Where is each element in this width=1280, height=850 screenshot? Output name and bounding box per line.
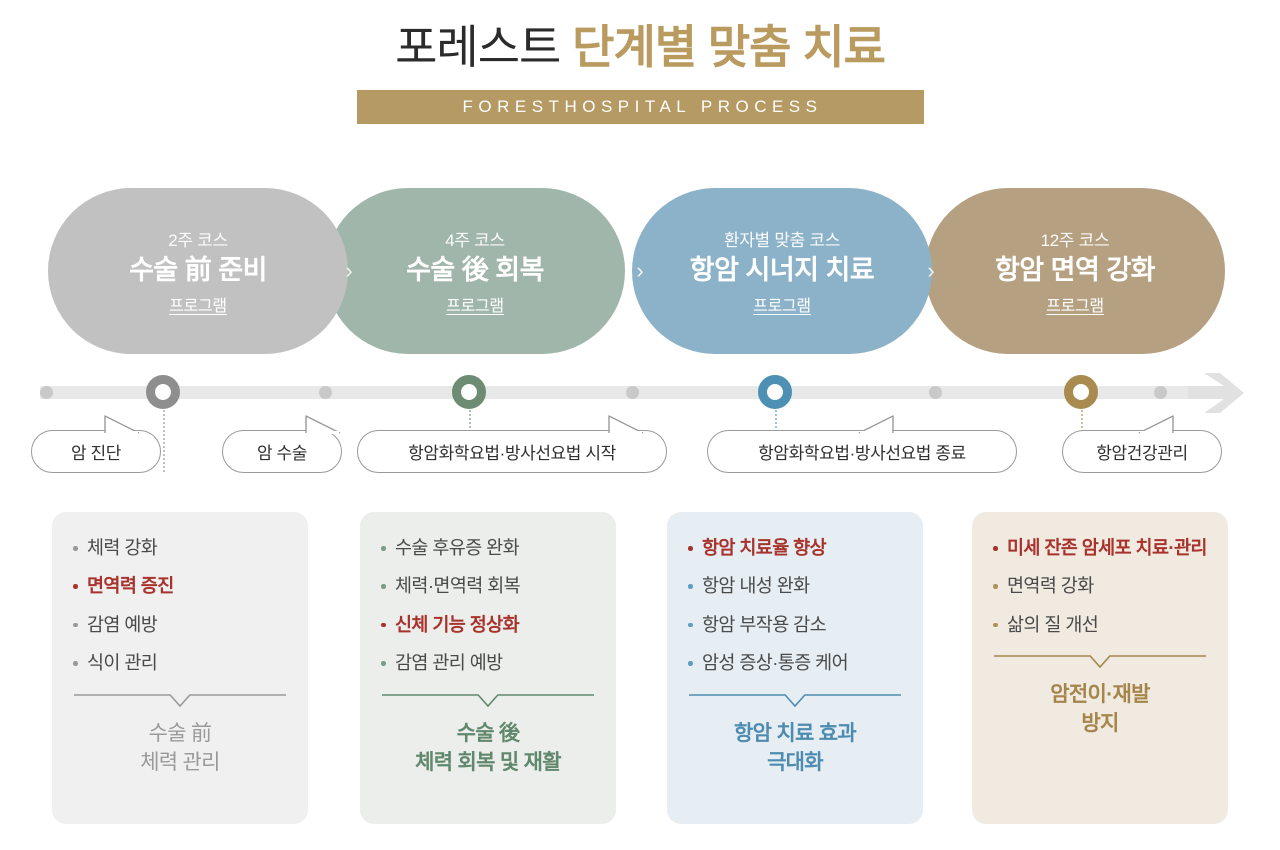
timeline-minor-dot[interactable] [1154, 386, 1167, 399]
stage-program-label: 프로그램 [1046, 292, 1104, 316]
stage-course-label: 4주 코스 [445, 226, 505, 251]
card-divider [689, 692, 901, 710]
bullet-dot-icon [688, 661, 693, 666]
card-footer: 항암 치료 효과극대화 [687, 720, 903, 778]
stage-name-label: 항암 면역 강화 [995, 255, 1155, 286]
benefit-list: 수술 후유증 완화체력·면역력 회복신체 기능 정상화감염 관리 예방 [380, 536, 596, 690]
card-footer-line2: 방지 [992, 710, 1208, 739]
card-footer-line2: 극대화 [687, 749, 903, 778]
chevron-right-icon: › [625, 188, 655, 354]
benefit-item-text: 미세 잔존 암세포 치료·관리 [1007, 537, 1207, 558]
benefit-list-item: 수술 후유증 완화 [380, 536, 596, 560]
benefit-item-text: 체력 강화 [87, 537, 157, 558]
benefit-list: 미세 잔존 암세포 치료·관리면역력 강화삶의 질 개선 [992, 536, 1208, 651]
page-title-plain: 포레스트 [395, 21, 560, 73]
bullet-dot-icon [381, 661, 386, 666]
benefit-card-4[interactable]: 미세 잔존 암세포 치료·관리면역력 강화삶의 질 개선암전이·재발방지 [972, 512, 1228, 824]
card-divider [382, 692, 594, 710]
card-footer: 암전이·재발방지 [992, 681, 1208, 739]
milestone-label-3[interactable]: 항암화학요법·방사선요법 시작 [357, 430, 667, 473]
bullet-dot-icon [688, 584, 693, 589]
benefit-item-text: 항암 치료율 향상 [702, 537, 826, 558]
benefit-card-3[interactable]: 항암 치료율 향상항암 내성 완화항암 부작용 감소암성 증상·통증 케어항암 … [667, 512, 923, 824]
benefit-list-item: 면역력 강화 [992, 574, 1208, 598]
milestone-label-text: 항암건강관리 [1096, 439, 1187, 464]
benefit-list: 체력 강화면역력 증진감염 예방식이 관리 [72, 536, 288, 690]
stage-program-label: 프로그램 [753, 292, 811, 316]
benefit-item-text: 면역력 증진 [87, 575, 174, 596]
stage-bubble-2[interactable]: 4주 코스수술 後 회복프로그램 [325, 188, 625, 354]
benefit-cards-row: 체력 강화면역력 증진감염 예방식이 관리수술 前체력 관리수술 후유증 완화체… [0, 512, 1280, 832]
process-timeline [0, 372, 1280, 412]
stage-course-label: 환자별 맞춤 코스 [724, 226, 840, 251]
milestone-label-text: 항암화학요법·방사선요법 종료 [758, 439, 966, 464]
benefit-list-item: 면역력 증진 [72, 574, 288, 598]
benefit-card-2[interactable]: 수술 후유증 완화체력·면역력 회복신체 기능 정상화감염 관리 예방수술 後체… [360, 512, 616, 824]
benefit-list-item: 삶의 질 개선 [992, 613, 1208, 637]
card-divider [74, 692, 286, 710]
bullet-dot-icon [381, 546, 386, 551]
benefit-list-item: 미세 잔존 암세포 치료·관리 [992, 536, 1208, 560]
bullet-dot-icon [993, 584, 998, 589]
benefit-list-item: 감염 관리 예방 [380, 651, 596, 675]
stage-bubble-3[interactable]: 환자별 맞춤 코스항암 시너지 치료프로그램 [632, 188, 932, 354]
stage-bubble-4[interactable]: 12주 코스항암 면역 강화프로그램 [925, 188, 1225, 354]
speech-tail-icon [608, 414, 644, 433]
benefit-item-text: 신체 기능 정상화 [395, 614, 519, 635]
timeline-milestone-marker[interactable] [758, 375, 792, 409]
card-footer: 수술 前체력 관리 [72, 720, 288, 778]
chevron-right-icon: › [334, 188, 364, 354]
benefit-item-text: 항암 내성 완화 [702, 575, 810, 596]
benefit-item-text: 삶의 질 개선 [1007, 614, 1098, 635]
bullet-dot-icon [993, 546, 998, 551]
benefit-item-text: 감염 예방 [87, 614, 157, 635]
page-title-accent: 단계별 맞춤 치료 [572, 21, 885, 73]
bullet-dot-icon [688, 623, 693, 628]
subtitle-text: FORESTHOSPITAL PROCESS [458, 97, 823, 117]
card-footer-line1: 수술 前 [72, 720, 288, 749]
stage-course-label: 12주 코스 [1041, 226, 1110, 251]
benefit-item-text: 암성 증상·통증 케어 [702, 652, 848, 673]
chevron-right-icon: › [916, 188, 946, 354]
card-footer-line2: 체력 회복 및 재활 [380, 749, 596, 778]
timeline-milestone-marker[interactable] [146, 375, 180, 409]
timeline-milestone-marker[interactable] [452, 375, 486, 409]
stage-program-label: 프로그램 [169, 292, 227, 316]
benefit-list-item: 항암 치료율 향상 [687, 536, 903, 560]
card-footer-line1: 항암 치료 효과 [687, 720, 903, 749]
card-footer-line1: 수술 後 [380, 720, 596, 749]
stage-bubbles-row: 2주 코스수술 前 준비프로그램4주 코스수술 後 회복프로그램환자별 맞춤 코… [0, 188, 1280, 358]
bullet-dot-icon [73, 546, 78, 551]
speech-tail-icon [1138, 414, 1174, 433]
benefit-list-item: 신체 기능 정상화 [380, 613, 596, 637]
page-header: 포레스트 단계별 맞춤 치료 FORESTHOSPITAL PROCESS [0, 0, 1280, 124]
timeline-minor-dot[interactable] [626, 386, 639, 399]
bullet-dot-icon [381, 584, 386, 589]
benefit-list-item: 식이 관리 [72, 651, 288, 675]
benefit-list-item: 체력 강화 [72, 536, 288, 560]
stage-name-label: 항암 시너지 치료 [690, 255, 874, 286]
speech-tail-icon [104, 414, 140, 433]
stage-program-label: 프로그램 [446, 292, 504, 316]
benefit-list-item: 감염 예방 [72, 613, 288, 637]
benefit-list-item: 항암 내성 완화 [687, 574, 903, 598]
milestone-label-text: 암 수술 [257, 439, 307, 464]
benefit-item-text: 항암 부작용 감소 [702, 614, 826, 635]
stage-name-label: 수술 後 회복 [406, 255, 544, 286]
card-divider [994, 653, 1206, 671]
bullet-dot-icon [993, 623, 998, 628]
timeline-minor-dot[interactable] [929, 386, 942, 399]
bullet-dot-icon [73, 584, 78, 589]
milestone-labels: 암 진단암 수술항암화학요법·방사선요법 시작항암화학요법·방사선요법 종료항암… [0, 430, 1280, 490]
milestone-label-1[interactable]: 암 진단 [31, 430, 161, 473]
page-title: 포레스트 단계별 맞춤 치료 [0, 24, 1280, 70]
benefit-list-item: 항암 부작용 감소 [687, 613, 903, 637]
benefit-item-text: 면역력 강화 [1007, 575, 1094, 596]
card-footer-line1: 암전이·재발 [992, 681, 1208, 710]
milestone-label-2[interactable]: 암 수술 [222, 430, 342, 473]
speech-tail-icon [858, 414, 894, 433]
stage-course-label: 2주 코스 [168, 226, 228, 251]
card-footer-line2: 체력 관리 [72, 749, 288, 778]
benefit-item-text: 체력·면역력 회복 [395, 575, 520, 596]
bullet-dot-icon [73, 661, 78, 666]
milestone-label-5[interactable]: 항암건강관리 [1062, 430, 1222, 473]
benefit-item-text: 수술 후유증 완화 [395, 537, 519, 558]
speech-tail-icon [305, 414, 341, 433]
bullet-dot-icon [688, 546, 693, 551]
subtitle-band: FORESTHOSPITAL PROCESS [357, 90, 924, 124]
stage-bubble-1[interactable]: 2주 코스수술 前 준비프로그램 [48, 188, 348, 354]
benefit-list: 항암 치료율 향상항암 내성 완화항암 부작용 감소암성 증상·통증 케어 [687, 536, 903, 690]
timeline-arrow-icon [1186, 372, 1246, 414]
benefit-item-text: 감염 관리 예방 [395, 652, 503, 673]
timeline-minor-dot[interactable] [319, 386, 332, 399]
milestone-label-text: 항암화학요법·방사선요법 시작 [408, 439, 616, 464]
bullet-dot-icon [73, 623, 78, 628]
benefit-list-item: 체력·면역력 회복 [380, 574, 596, 598]
timeline-minor-dot[interactable] [40, 386, 53, 399]
milestone-label-text: 암 진단 [71, 439, 121, 464]
stage-name-label: 수술 前 준비 [129, 255, 267, 286]
benefit-list-item: 암성 증상·통증 케어 [687, 651, 903, 675]
benefit-card-1[interactable]: 체력 강화면역력 증진감염 예방식이 관리수술 前체력 관리 [52, 512, 308, 824]
bullet-dot-icon [381, 623, 386, 628]
card-footer: 수술 後체력 회복 및 재활 [380, 720, 596, 778]
timeline-milestone-marker[interactable] [1064, 375, 1098, 409]
milestone-label-4[interactable]: 항암화학요법·방사선요법 종료 [707, 430, 1017, 473]
benefit-item-text: 식이 관리 [87, 652, 157, 673]
